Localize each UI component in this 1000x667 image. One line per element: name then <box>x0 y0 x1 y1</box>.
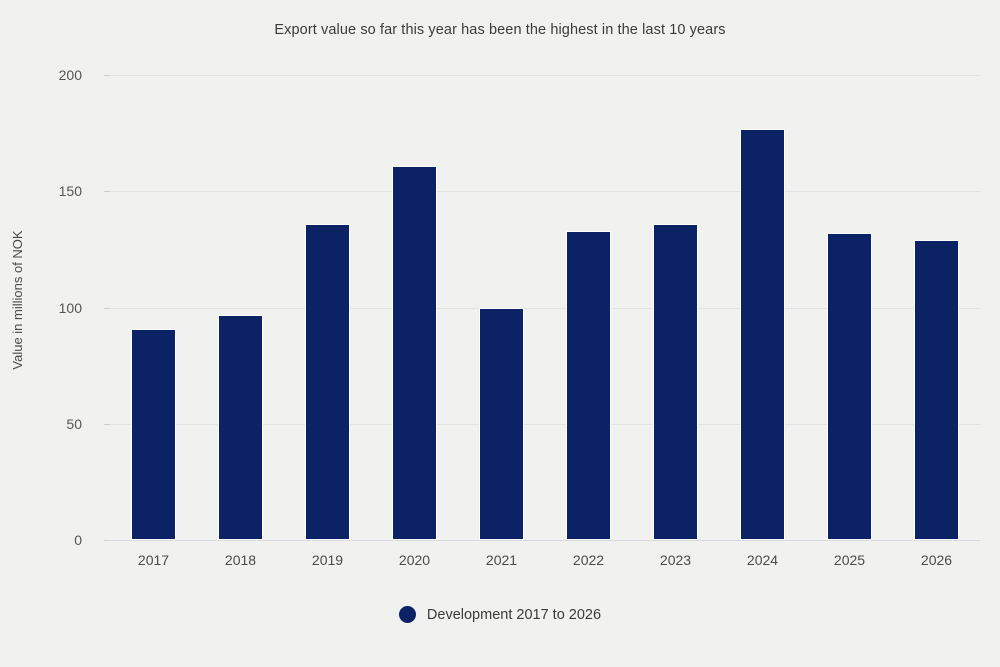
legend-marker-icon <box>399 606 416 623</box>
x-axis-tick-label: 2026 <box>897 552 977 568</box>
bar-2025[interactable] <box>827 233 872 540</box>
y-axis-tick-label: 0 <box>74 532 82 548</box>
x-axis-tick-labels: 2017201820192020202120222023202420252026 <box>110 552 980 578</box>
x-axis-tick-label: 2017 <box>114 552 194 568</box>
x-axis-tick-label: 2019 <box>288 552 368 568</box>
x-axis-tick-label: 2025 <box>810 552 890 568</box>
x-axis-tick-label: 2023 <box>636 552 716 568</box>
bar-2017[interactable] <box>131 329 176 540</box>
x-axis-tick-label: 2021 <box>462 552 542 568</box>
y-axis-tick-mark <box>104 540 110 541</box>
bar-2020[interactable] <box>392 166 437 540</box>
y-axis-tick-label: 200 <box>59 67 82 83</box>
gridline <box>110 540 980 541</box>
x-axis-tick-label: 2020 <box>375 552 455 568</box>
y-axis-tick-label: 100 <box>59 300 82 316</box>
y-axis-tick-label: 50 <box>66 416 82 432</box>
chart-legend: Development 2017 to 2026 <box>0 606 1000 623</box>
y-axis-tick-labels: 050100150200 <box>0 75 96 540</box>
x-axis-tick-label: 2022 <box>549 552 629 568</box>
bar-2023[interactable] <box>653 224 698 540</box>
bar-chart: Export value so far this year has been t… <box>0 0 1000 667</box>
chart-title: Export value so far this year has been t… <box>0 22 1000 38</box>
y-axis-tick-label: 150 <box>59 183 82 199</box>
bar-2024[interactable] <box>740 129 785 540</box>
bar-2026[interactable] <box>914 240 959 540</box>
bar-2019[interactable] <box>305 224 350 540</box>
x-axis-tick-label: 2018 <box>201 552 281 568</box>
x-axis-tick-label: 2024 <box>723 552 803 568</box>
bar-2018[interactable] <box>218 315 263 540</box>
legend-label: Development 2017 to 2026 <box>427 607 601 623</box>
bar-2021[interactable] <box>479 308 524 540</box>
bars-layer <box>110 75 980 540</box>
bar-2022[interactable] <box>566 231 611 540</box>
